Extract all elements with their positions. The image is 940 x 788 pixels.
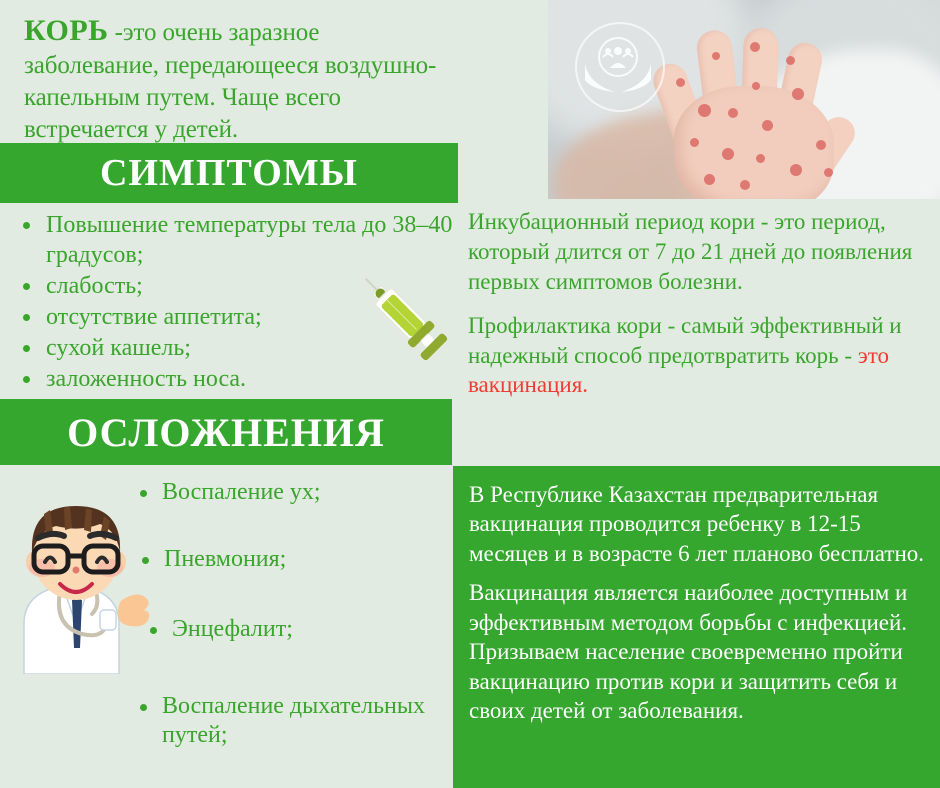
list-item: Пневмония; [164,545,440,574]
prevention-text: Профилактика кори - самый эффективный и … [468,313,902,368]
rash-spot [792,88,804,100]
measles-infographic-poster: КОРЬ -это очень заразное заболевание, пе… [0,0,940,788]
list-item: Воспаление дыхательных путей; [162,692,440,751]
complications-list-block: Воспаление ух; Пневмония; Энцефалит; Вос… [140,470,440,750]
rash-spot [756,154,765,163]
list-item: Воспаление ух; [162,478,440,507]
list-item: Энцефалит; [172,615,440,644]
rash-spot [824,168,833,177]
hands-family-logo-icon [575,22,665,112]
rash-spot [752,82,760,90]
rash-spot [704,174,715,185]
rash-spot [722,148,734,160]
symptoms-banner-label: СИМПТОМЫ [100,151,358,195]
vaccination-info-panel: В Республике Казахстан предварительная в… [453,466,940,788]
rash-spot [750,42,760,52]
info-paragraph-1: В Республике Казахстан предварительная в… [469,480,926,568]
hand-with-rash [640,8,900,199]
rash-spot [790,164,802,176]
info-paragraph-2: Вакцинация является наиболее доступным и… [469,578,926,725]
rash-spot [762,120,773,131]
intro-text: КОРЬ -это очень заразное заболевание, пе… [24,12,456,146]
right-info-column: Инкубационный период кори - это период, … [462,203,940,414]
syringe-icon [345,258,457,370]
rash-spot [786,56,795,65]
rash-spot [712,52,720,60]
measles-hand-photo [548,0,940,199]
intro-block: КОРЬ -это очень заразное заболевание, пе… [0,0,470,143]
disease-title: КОРЬ [24,14,109,47]
prevention-paragraph: Профилактика кори - самый эффективный и … [468,311,932,401]
rash-spot [728,108,738,118]
rash-spot [816,140,826,150]
complications-list: Воспаление ух; Пневмония; Энцефалит; Вос… [140,478,440,750]
complications-banner: ОСЛОЖНЕНИЯ [0,399,452,465]
rash-spot [676,78,685,87]
incubation-paragraph: Инкубационный период кори - это период, … [468,207,932,297]
rash-spot [690,138,699,147]
rash-spot [740,180,750,190]
rash-spot [698,104,711,117]
complications-banner-label: ОСЛОЖНЕНИЯ [67,409,385,456]
symptoms-banner: СИМПТОМЫ [0,143,458,203]
